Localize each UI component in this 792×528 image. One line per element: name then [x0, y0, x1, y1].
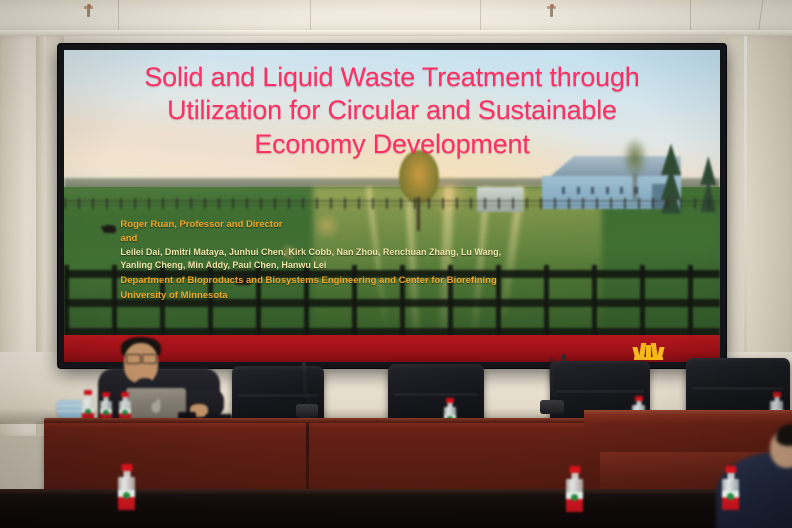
slide-coauthors-line-1: Leilei Dai, Dmitri Mataya, Junhui Chen, … [120, 246, 671, 259]
presentation-screen[interactable]: Solid and Liquid Waste Treatment through… [58, 44, 726, 368]
slide-title: Solid and Liquid Waste Treatment through… [80, 61, 703, 161]
face-mask [57, 400, 83, 418]
apple-logo-icon [152, 402, 161, 413]
slide-and-label: and [120, 232, 671, 246]
sprinkler-icon [84, 4, 93, 17]
screen-content: Solid and Liquid Waste Treatment through… [64, 50, 720, 362]
sprinkler-icon [547, 4, 556, 17]
slide-bg-horse [103, 225, 116, 233]
slide-title-line-3: Economy Development [80, 128, 703, 161]
slide-title-line-1: Solid and Liquid Waste Treatment through [80, 61, 703, 94]
slide-presenter-name: Roger Ruan, Professor and Director [120, 218, 671, 232]
water-bottle[interactable] [566, 466, 583, 512]
slide-department: Department of Bioproducts and Biosystems… [120, 274, 671, 288]
slide-institution: University of Minnesota [120, 289, 671, 303]
university-logo-icon [634, 342, 664, 360]
chair[interactable] [388, 364, 484, 426]
slide-bottom-banner [64, 335, 720, 362]
slide-title-line-2: Utilization for Circular and Sustainable [80, 94, 703, 127]
conference-room-photo: Solid and Liquid Waste Treatment through… [0, 0, 792, 528]
water-bottle[interactable] [722, 466, 739, 510]
slide-bg-fence-far [64, 198, 720, 209]
slide-author-block: Roger Ruan, Professor and Director and L… [120, 218, 671, 303]
water-bottle[interactable] [118, 464, 135, 510]
slide-coauthors-line-2: Yanling Cheng, Min Addy, Paul Chen, Hanw… [120, 259, 671, 272]
